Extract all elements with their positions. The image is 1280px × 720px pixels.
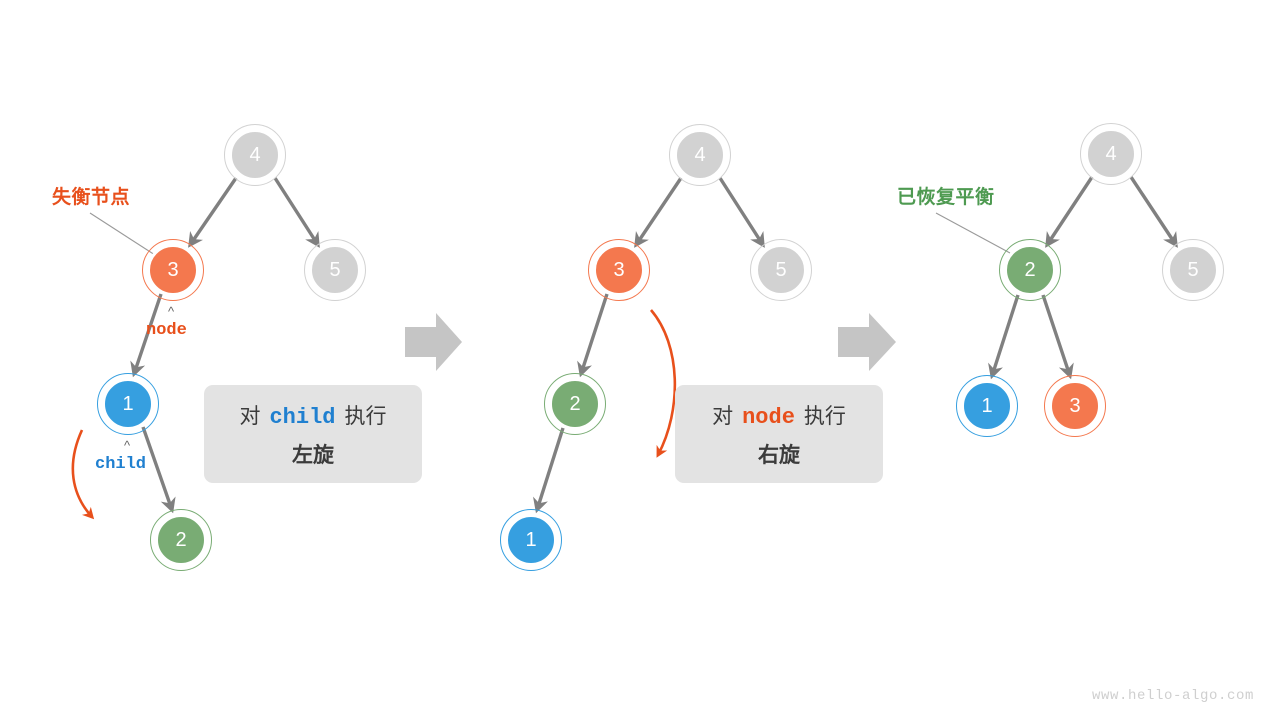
tree-node-5[interactable]: 5 bbox=[1167, 244, 1219, 296]
tree-node-4[interactable]: 4 bbox=[229, 129, 281, 181]
tree-node-5[interactable]: 5 bbox=[755, 244, 807, 296]
tree-node-1[interactable]: 1 bbox=[102, 378, 154, 430]
tree-node-1[interactable]: 1 bbox=[961, 380, 1013, 432]
operation-action: 右旋 bbox=[758, 439, 800, 469]
tree-node-1[interactable]: 1 bbox=[505, 514, 557, 566]
operation-action: 左旋 bbox=[292, 439, 334, 469]
var-label-child: child bbox=[95, 455, 146, 474]
operation-target: node bbox=[733, 405, 804, 430]
rotation-arc-right bbox=[651, 310, 675, 455]
rotation-arc-left bbox=[73, 430, 92, 517]
tree-node-2[interactable]: 2 bbox=[155, 514, 207, 566]
callout-rebalanced: 已恢复平衡 bbox=[897, 182, 995, 209]
tree-node-4[interactable]: 4 bbox=[674, 129, 726, 181]
operation-line-1: 对 child 执行 bbox=[239, 400, 386, 430]
edges-layer bbox=[0, 0, 1280, 720]
operation-prefix: 对 bbox=[712, 400, 733, 430]
tree-node-4[interactable]: 4 bbox=[1085, 128, 1137, 180]
watermark: www.hello-algo.com bbox=[1092, 688, 1254, 704]
callout-unbalanced-node: 失衡节点 bbox=[52, 182, 130, 209]
caret-icon: ^ bbox=[124, 439, 130, 452]
callout-leader-3 bbox=[936, 213, 1010, 253]
step-arrow-2 bbox=[838, 313, 896, 371]
tree-node-3[interactable]: 3 bbox=[1049, 380, 1101, 432]
tree-node-3[interactable]: 3 bbox=[593, 244, 645, 296]
tree-node-3[interactable]: 3 bbox=[147, 244, 199, 296]
operation-prefix: 对 bbox=[239, 400, 260, 430]
operation-suffix: 执行 bbox=[804, 400, 846, 430]
callout-leader-1 bbox=[90, 213, 155, 255]
operation-suffix: 执行 bbox=[345, 400, 387, 430]
diagram-canvas: 失衡节点 4 5 3 1 2 ^ node ^ child 对 child 执行… bbox=[0, 0, 1280, 720]
var-label-node: node bbox=[146, 321, 187, 340]
operation-target: child bbox=[260, 405, 344, 430]
operation-line-2: 对 node 执行 bbox=[712, 400, 846, 430]
step-arrow-1 bbox=[405, 313, 462, 371]
tree-node-2[interactable]: 2 bbox=[1004, 244, 1056, 296]
tree-node-2[interactable]: 2 bbox=[549, 378, 601, 430]
tree-node-5[interactable]: 5 bbox=[309, 244, 361, 296]
caret-icon: ^ bbox=[168, 305, 174, 318]
operation-box-left-rotate: 对 child 执行 左旋 bbox=[204, 385, 422, 483]
operation-box-right-rotate: 对 node 执行 右旋 bbox=[675, 385, 883, 483]
